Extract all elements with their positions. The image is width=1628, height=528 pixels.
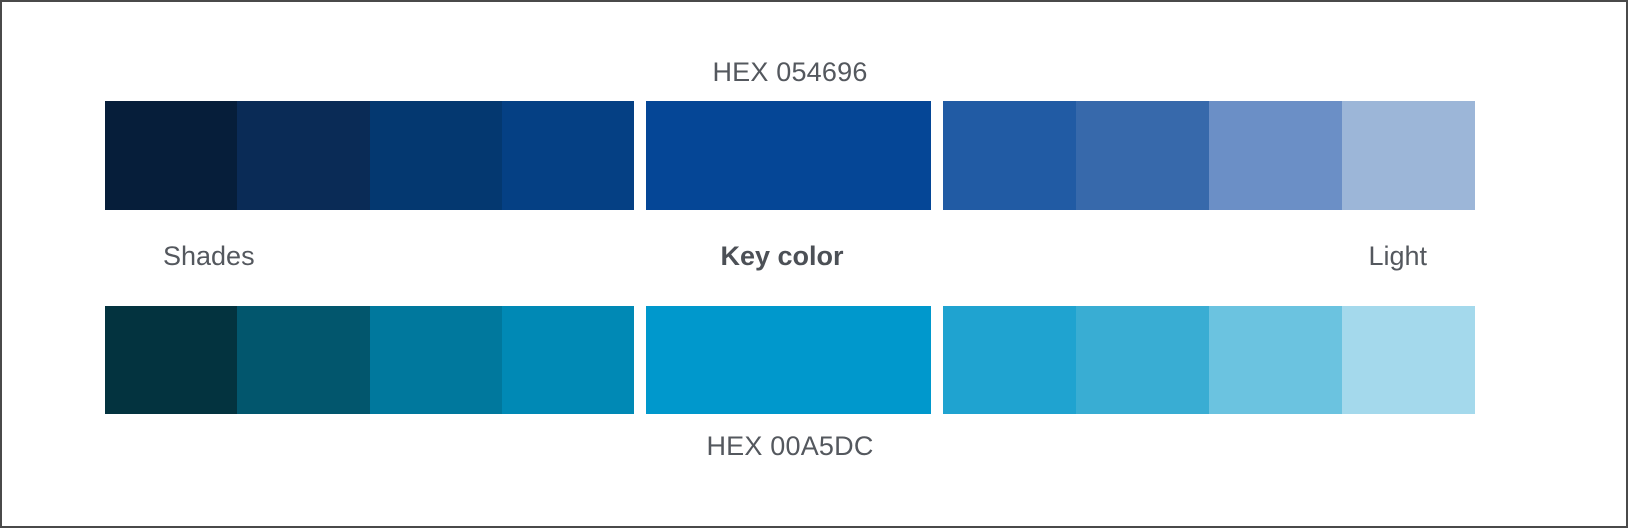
swatch-accent-light-2[interactable] (1076, 306, 1209, 414)
accent-key-group (646, 306, 931, 414)
swatch-primary-light-3[interactable] (1209, 101, 1342, 210)
accent-shades-group (105, 306, 634, 414)
swatch-accent-shade-2[interactable] (237, 306, 369, 414)
top-hex-caption: HEX 054696 (105, 52, 1475, 92)
swatch-accent-shade-1[interactable] (105, 306, 237, 414)
group-gap-right-bottom (931, 306, 943, 414)
swatch-primary-key[interactable] (646, 101, 931, 210)
swatch-primary-shade-2[interactable] (237, 101, 369, 210)
swatch-accent-key[interactable] (646, 306, 931, 414)
label-shades: Shades (105, 234, 634, 279)
color-palette-page: HEX 054696 Shades Key color (0, 0, 1628, 528)
swatch-accent-light-1[interactable] (943, 306, 1076, 414)
group-gap-left-bottom (634, 306, 646, 414)
accent-light-group (943, 306, 1475, 414)
primary-shades-group (105, 101, 634, 210)
swatch-accent-shade-4[interactable] (502, 306, 634, 414)
swatch-primary-shade-1[interactable] (105, 101, 237, 210)
bottom-hex-caption: HEX 00A5DC (105, 426, 1475, 466)
swatch-primary-light-4[interactable] (1342, 101, 1475, 210)
swatch-accent-light-3[interactable] (1209, 306, 1342, 414)
primary-light-group (943, 101, 1475, 210)
swatch-primary-shade-3[interactable] (370, 101, 502, 210)
palette-canvas: HEX 054696 Shades Key color (2, 2, 1626, 526)
swatch-accent-light-4[interactable] (1342, 306, 1475, 414)
group-gap-left (634, 101, 646, 210)
swatch-accent-shade-3[interactable] (370, 306, 502, 414)
group-gap-right (931, 101, 943, 210)
label-key-color: Key color (634, 234, 930, 279)
palette-label-band: Shades Key color Light (105, 234, 1475, 279)
primary-key-group (646, 101, 931, 210)
swatch-primary-light-2[interactable] (1076, 101, 1209, 210)
label-light: Light (930, 234, 1475, 279)
accent-cyan-swatch-row (105, 306, 1475, 414)
swatch-primary-shade-4[interactable] (502, 101, 634, 210)
primary-blue-swatch-row (105, 101, 1475, 210)
swatch-primary-light-1[interactable] (943, 101, 1076, 210)
